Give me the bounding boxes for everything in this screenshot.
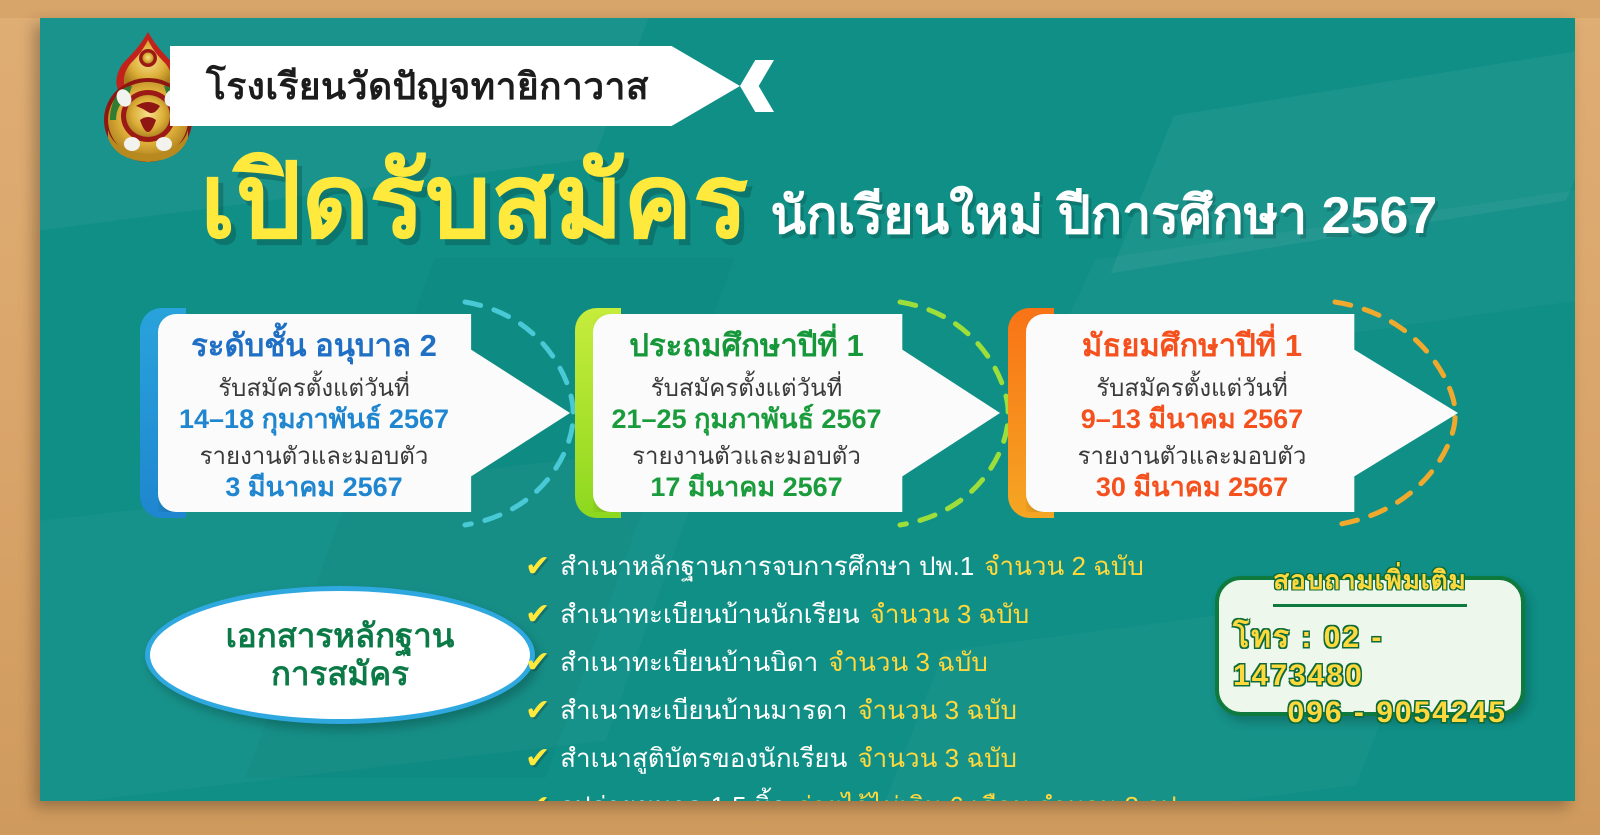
headline-main-text: เปิดรับสมัคร xyxy=(200,153,748,252)
list-item: ✔ รูปถ่ายขนาด 1.5 นิ้ว ถ่ายไว้ไม่เกิน 6 … xyxy=(525,786,1265,801)
level-cards-row: ระดับชั้น อนุบาล 2 รับสมัครตั้งแต่วันที่… xyxy=(100,296,1520,531)
checklist-item-name: สำเนาสูติบัตรของนักเรียน xyxy=(560,738,847,779)
level-card-body: มัธยมศึกษาปีที่ 1 รับสมัครตั้งแต่วันที่ … xyxy=(1026,314,1458,512)
school-name-ribbon: โรงเรียนวัดปัญจทายิกาวาส xyxy=(170,46,740,126)
level-report-label: รายงานตัวและมอบตัว xyxy=(1078,442,1307,471)
poster-frame: โรงเรียนวัดปัญจทายิกาวาส เปิดรับสมัคร นั… xyxy=(0,0,1600,835)
documents-badge-line-1: เอกสารหลักฐาน xyxy=(226,617,455,655)
level-report-label: รายงานตัวและมอบตัว xyxy=(200,442,429,471)
level-report-date: 17 มีนาคม 2567 xyxy=(650,471,842,504)
check-mark-icon: ✔ xyxy=(525,792,550,801)
checklist-item-name: สำเนาหลักฐานการจบการศึกษา ปพ.1 xyxy=(560,546,974,587)
level-card-prathom-1[interactable]: ประถมศึกษาปีที่ 1 รับสมัครตั้งแต่วันที่ … xyxy=(575,308,1000,518)
level-report-date: 3 มีนาคม 2567 xyxy=(225,471,402,504)
checklist-item-name: สำเนาทะเบียนบ้านนักเรียน xyxy=(560,594,859,635)
check-mark-icon: ✔ xyxy=(525,552,550,582)
double-chevron-left-icon xyxy=(740,60,774,112)
list-item: ✔ สำเนาทะเบียนบ้านบิดา จำนวน 3 ฉบับ xyxy=(525,642,1265,683)
level-apply-date: 9–13 มีนาคม 2567 xyxy=(1081,403,1303,436)
level-card-anuban-2[interactable]: ระดับชั้น อนุบาล 2 รับสมัครตั้งแต่วันที่… xyxy=(140,308,570,518)
checklist-item-name: สำเนาทะเบียนบ้านบิดา xyxy=(560,642,818,683)
check-mark-icon: ✔ xyxy=(525,744,550,774)
check-mark-icon: ✔ xyxy=(525,696,550,726)
level-card-matthayom-1[interactable]: มัธยมศึกษาปีที่ 1 รับสมัครตั้งแต่วันที่ … xyxy=(1008,308,1458,518)
checklist-item-qty: ถ่ายไว้ไม่เกิน 6 เดือน จำนวน 3 รูป xyxy=(796,786,1177,801)
level-title: ประถมศึกษาปีที่ 1 xyxy=(629,320,863,370)
level-apply-date: 21–25 กุมภาพันธ์ 2567 xyxy=(612,403,882,436)
checklist-item-name: สำเนาทะเบียนบ้านมารดา xyxy=(560,690,847,731)
checklist-item-qty: จำนวน 3 ฉบับ xyxy=(828,642,988,683)
list-item: ✔ สำเนาทะเบียนบ้านมารดา จำนวน 3 ฉบับ xyxy=(525,690,1265,731)
level-report-date: 30 มีนาคม 2567 xyxy=(1096,471,1288,504)
school-name-label: โรงเรียนวัดปัญจทายิกาวาส xyxy=(170,57,649,116)
documents-badge-line-2: การสมัคร xyxy=(271,655,409,693)
level-card-body: ระดับชั้น อนุบาล 2 รับสมัครตั้งแต่วันที่… xyxy=(158,314,570,512)
page-title: เปิดรับสมัคร นักเรียนใหม่ ปีการศึกษา 256… xyxy=(200,153,1540,252)
list-item: ✔ สำเนาสูติบัตรของนักเรียน จำนวน 3 ฉบับ xyxy=(525,738,1265,779)
list-item: ✔ สำเนาทะเบียนบ้านนักเรียน จำนวน 3 ฉบับ xyxy=(525,594,1265,635)
contact-title: สอบถามเพิ่มเติม xyxy=(1273,560,1467,607)
level-card-body: ประถมศึกษาปีที่ 1 รับสมัครตั้งแต่วันที่ … xyxy=(593,314,1000,512)
documents-badge: เอกสารหลักฐาน การสมัคร xyxy=(145,586,535,724)
checklist-item-qty: จำนวน 3 ฉบับ xyxy=(870,594,1030,635)
contact-phone-2[interactable]: 096 - 9054245 xyxy=(1233,694,1507,732)
level-report-label: รายงานตัวและมอบตัว xyxy=(632,442,861,471)
contact-phone-1[interactable]: โทร : 02 - 1473480 xyxy=(1233,619,1507,694)
check-mark-icon: ✔ xyxy=(525,648,550,678)
level-title: มัธยมศึกษาปีที่ 1 xyxy=(1082,320,1302,370)
documents-checklist: ✔ สำเนาหลักฐานการจบการศึกษา ปพ.1 จำนวน 2… xyxy=(525,546,1265,801)
level-apply-label: รับสมัครตั้งแต่วันที่ xyxy=(1096,374,1288,403)
poster-panel: โรงเรียนวัดปัญจทายิกาวาส เปิดรับสมัคร นั… xyxy=(40,18,1575,801)
level-apply-label: รับสมัครตั้งแต่วันที่ xyxy=(218,374,410,403)
contact-box: สอบถามเพิ่มเติม โทร : 02 - 1473480 096 -… xyxy=(1215,576,1525,716)
list-item: ✔ สำเนาหลักฐานการจบการศึกษา ปพ.1 จำนวน 2… xyxy=(525,546,1265,587)
checklist-item-qty: จำนวน 3 ฉบับ xyxy=(857,690,1017,731)
check-mark-icon: ✔ xyxy=(525,600,550,630)
level-apply-date: 14–18 กุมภาพันธ์ 2567 xyxy=(179,403,449,436)
checklist-item-qty: จำนวน 2 ฉบับ xyxy=(984,546,1144,587)
checklist-item-qty: จำนวน 3 ฉบับ xyxy=(857,738,1017,779)
level-title: ระดับชั้น อนุบาล 2 xyxy=(191,320,437,370)
checklist-item-name: รูปถ่ายขนาด 1.5 นิ้ว xyxy=(560,786,786,801)
level-apply-label: รับสมัครตั้งแต่วันที่ xyxy=(651,374,843,403)
headline-sub-text: นักเรียนใหม่ ปีการศึกษา 2567 xyxy=(770,190,1437,252)
